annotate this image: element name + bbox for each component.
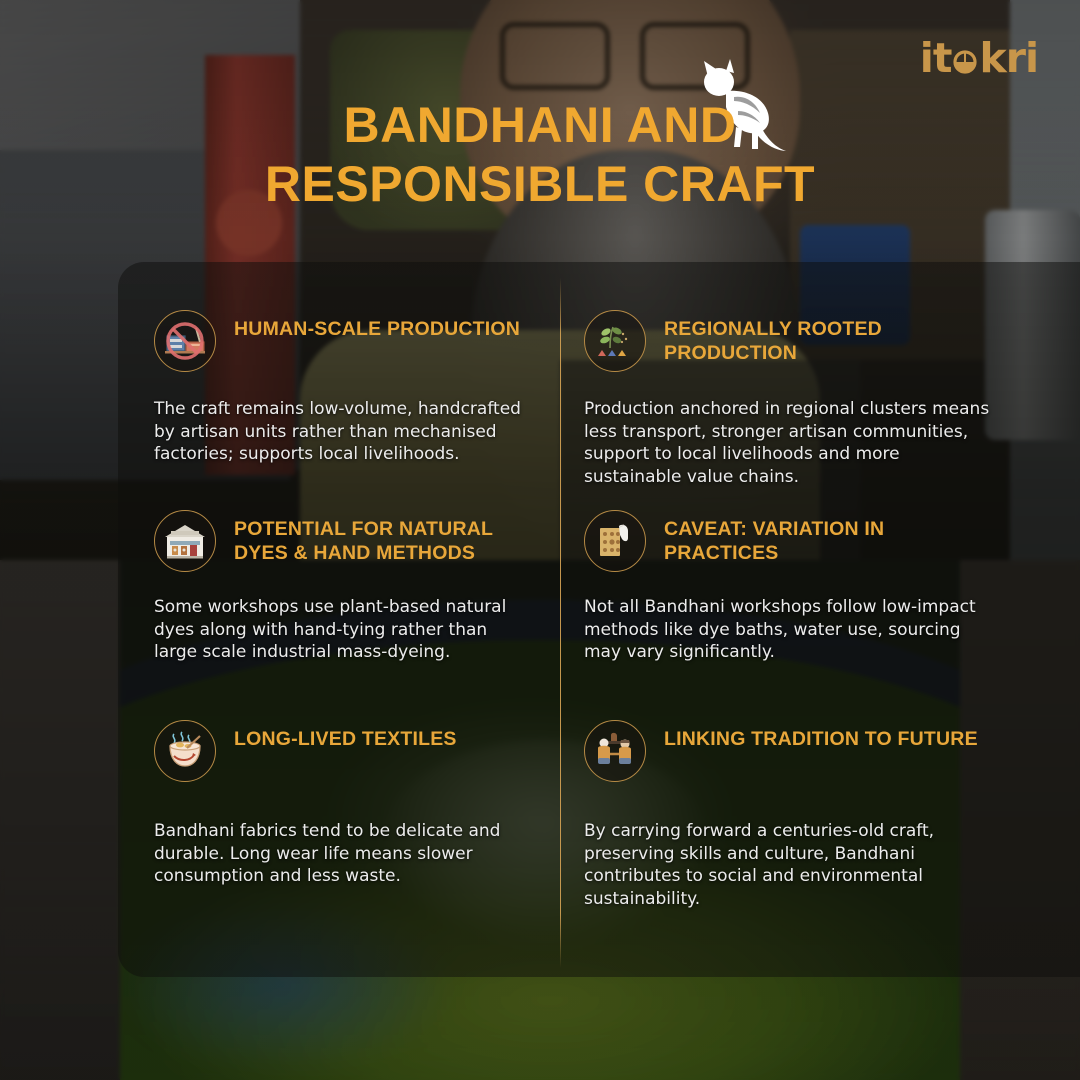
card-body: Not all Bandhani workshops follow low-im… bbox=[584, 596, 992, 664]
card-header: LONG-LIVED TEXTILES bbox=[154, 720, 526, 782]
no-factory-icon bbox=[154, 310, 216, 372]
card-body: Some workshops use plant-based natural d… bbox=[154, 596, 526, 664]
card-body: By carrying forward a centuries-old craf… bbox=[584, 820, 992, 910]
page-title: BANDHANI AND RESPONSIBLE CRAFT bbox=[0, 96, 1080, 214]
card-natural-dyes-hand-methods: POTENTIAL FOR NATURAL DYES & HAND METHOD… bbox=[118, 510, 560, 720]
card-title: HUMAN-SCALE PRODUCTION bbox=[234, 310, 520, 341]
title-line-1: BANDHANI AND bbox=[343, 97, 736, 153]
craft-workshop-building-icon bbox=[154, 510, 216, 572]
card-body: The craft remains low-volume, handcrafte… bbox=[154, 398, 526, 466]
card-header: LINKING TRADITION TO FUTURE bbox=[584, 720, 1080, 782]
card-long-lived-textiles: LONG-LIVED TEXTILES Bandhani fabrics ten… bbox=[118, 720, 560, 977]
brand-logo-text-2: kri bbox=[979, 34, 1038, 82]
basket-icon bbox=[952, 49, 978, 75]
two-artisans-icon bbox=[584, 720, 646, 782]
card-linking-tradition-future: LINKING TRADITION TO FUTURE By carrying … bbox=[560, 720, 1080, 977]
plant-dye-powders-icon bbox=[584, 310, 646, 372]
hand-holding-fabric-icon bbox=[584, 510, 646, 572]
card-title: CAVEAT: VARIATION IN PRACTICES bbox=[664, 510, 984, 566]
steaming-dye-pot-icon bbox=[154, 720, 216, 782]
card-body: Bandhani fabrics tend to be delicate and… bbox=[154, 820, 526, 888]
cards-grid: HUMAN-SCALE PRODUCTION The craft remains… bbox=[118, 262, 1080, 977]
card-title: LINKING TRADITION TO FUTURE bbox=[664, 720, 978, 751]
brand-logo[interactable]: itkri bbox=[920, 38, 1038, 79]
card-title: REGIONALLY ROOTED PRODUCTION bbox=[664, 310, 984, 366]
card-header: HUMAN-SCALE PRODUCTION bbox=[154, 310, 526, 372]
card-header: CAVEAT: VARIATION IN PRACTICES bbox=[584, 510, 1080, 572]
card-body: Production anchored in regional clusters… bbox=[584, 398, 992, 488]
card-header: POTENTIAL FOR NATURAL DYES & HAND METHOD… bbox=[154, 510, 526, 572]
card-header: REGIONALLY ROOTED PRODUCTION bbox=[584, 310, 1080, 372]
card-title: POTENTIAL FOR NATURAL DYES & HAND METHOD… bbox=[234, 510, 526, 566]
card-regionally-rooted-production: REGIONALLY ROOTED PRODUCTION Production … bbox=[560, 310, 1080, 510]
card-caveat-variation-practices: CAVEAT: VARIATION IN PRACTICES Not all B… bbox=[560, 510, 1080, 720]
title-line-2: RESPONSIBLE CRAFT bbox=[0, 155, 1080, 214]
brand-logo-text: it bbox=[920, 34, 952, 82]
card-human-scale-production: HUMAN-SCALE PRODUCTION The craft remains… bbox=[118, 310, 560, 510]
card-title: LONG-LIVED TEXTILES bbox=[234, 720, 457, 751]
